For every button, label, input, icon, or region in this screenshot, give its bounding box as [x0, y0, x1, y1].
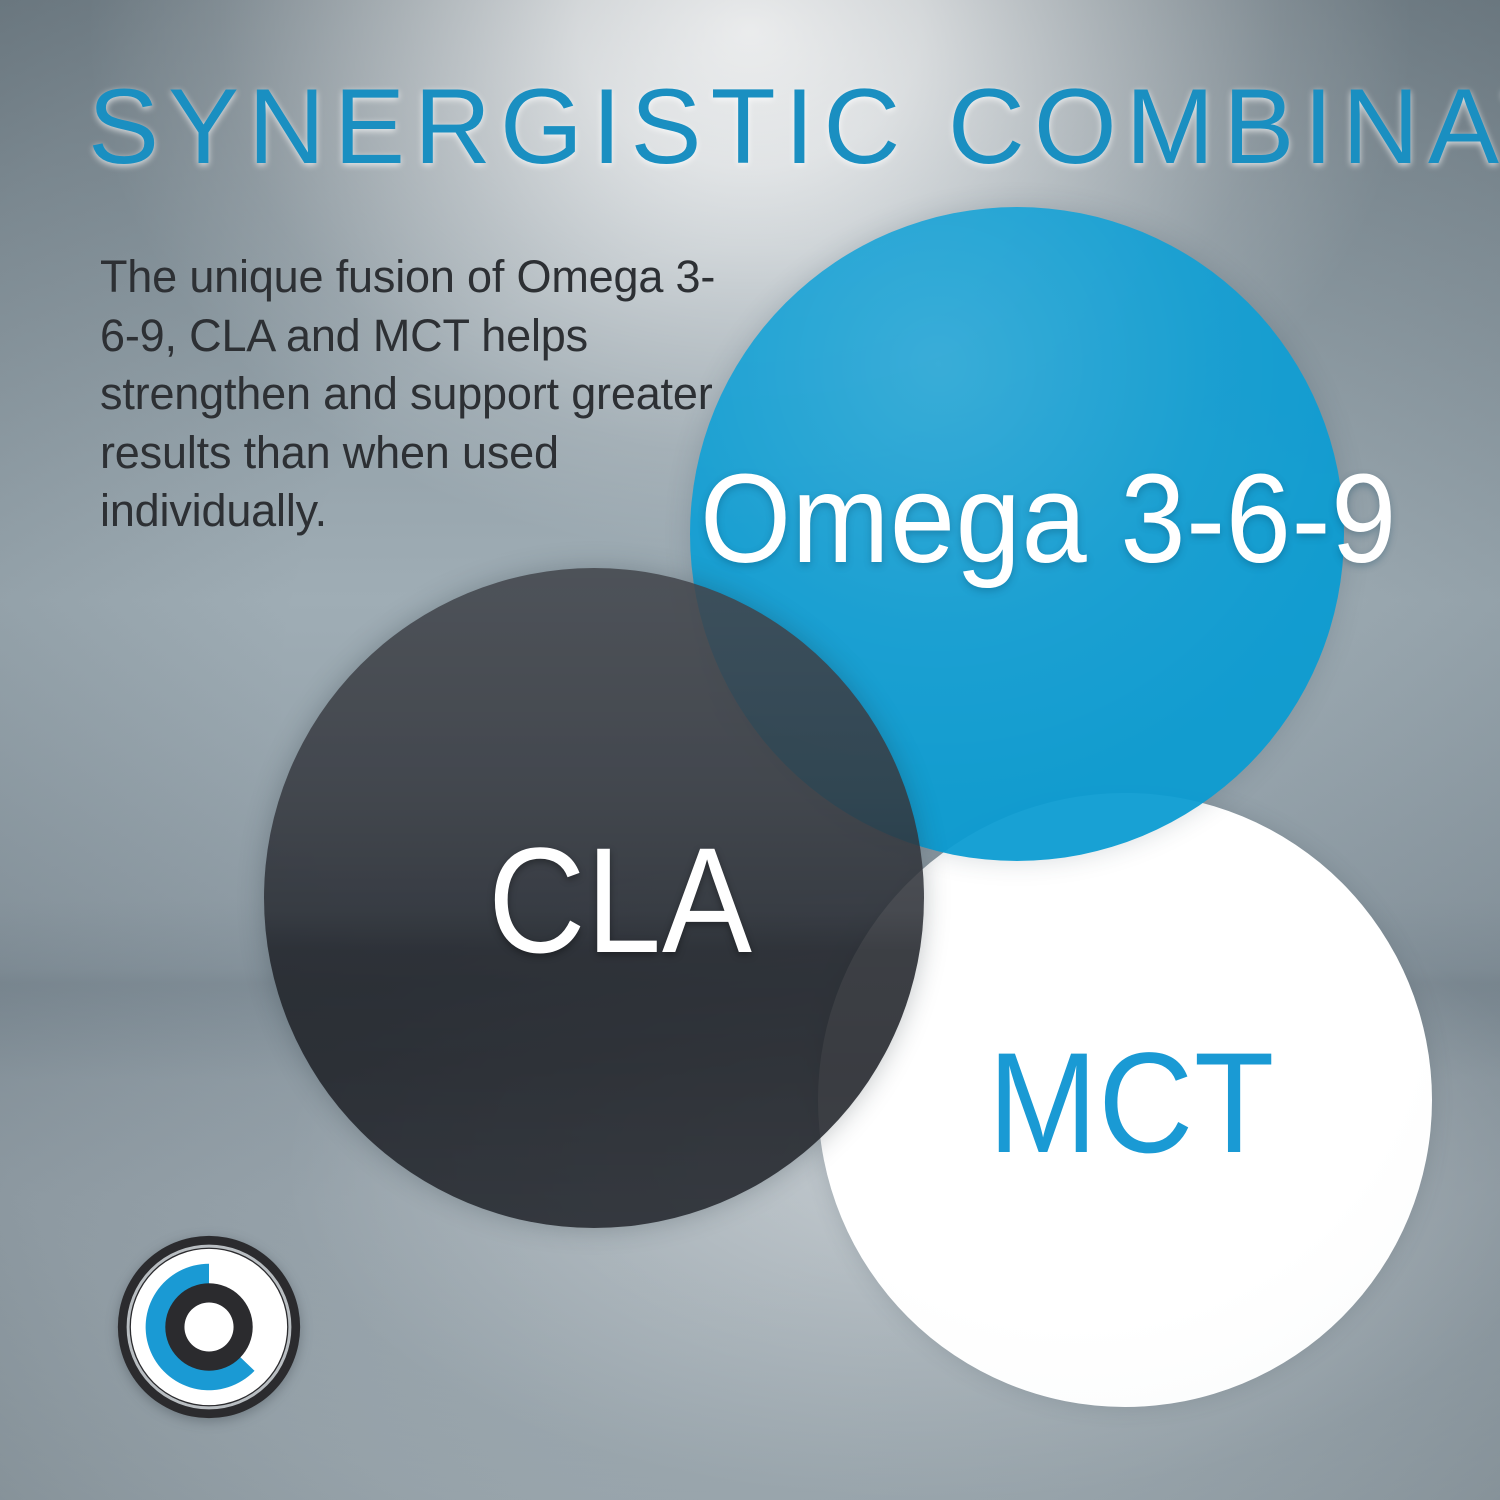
- venn-label-cla: CLA: [488, 825, 753, 975]
- venn-label-mct: MCT: [988, 1032, 1275, 1175]
- brand-logo: [116, 1234, 302, 1420]
- poster-canvas: SYNERGISTIC COMBINATION The unique fusio…: [0, 0, 1500, 1500]
- venn-label-omega: Omega 3-6-9: [700, 456, 1314, 582]
- brand-logo-c-mark-icon: [116, 1234, 302, 1420]
